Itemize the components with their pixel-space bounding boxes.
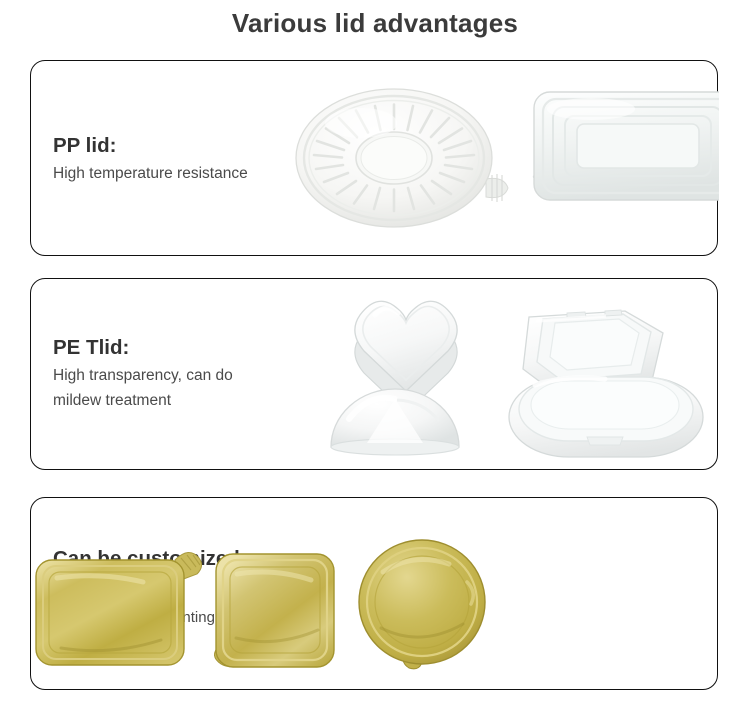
panel-cover-film: Can be customized cover film: Custom pat… <box>30 497 718 690</box>
dome-pet-lid-graphic <box>331 389 459 455</box>
panel-pp-lid: PP lid: High temperature resistance <box>30 60 718 256</box>
heart-pet-lid-graphic <box>355 301 457 413</box>
panel-pp-heading: PP lid: <box>53 135 328 158</box>
panel-pp-text-block: PP lid: High temperature resistance <box>53 135 328 187</box>
panel-pet-description: High transparency, can do mildew treatme… <box>53 364 328 414</box>
panel-pet-text-block: PE Tlid: High transparency, can do milde… <box>53 337 328 414</box>
panel-cover-film-description: Custom pattern printing <box>53 606 328 630</box>
oval-pet-lid-graphic <box>509 377 703 457</box>
panel-pet-heading: PE Tlid: <box>53 337 328 360</box>
rectangular-pp-lid-graphic <box>533 92 719 200</box>
panel-pet-lid: PE Tlid: High transparency, can do milde… <box>30 278 718 470</box>
panel-cover-film-text-block: Can be customized cover film: Custom pat… <box>53 548 328 630</box>
panel-cover-film-heading: Can be customized cover film: <box>53 548 328 594</box>
page-title: Various lid advantages <box>0 8 750 39</box>
square-pet-lid-graphic <box>523 310 663 393</box>
gold-round-foil-lid-graphic <box>359 540 485 669</box>
panel-pp-description: High temperature resistance <box>53 162 328 187</box>
